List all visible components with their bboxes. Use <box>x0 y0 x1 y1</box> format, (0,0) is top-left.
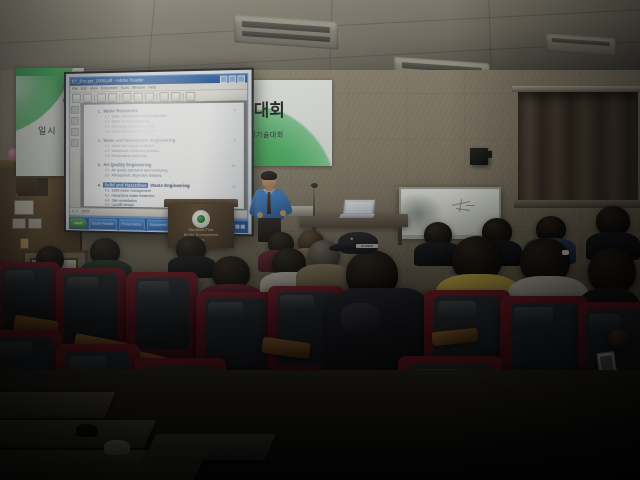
subitem-number: 2.2 <box>105 149 110 153</box>
layers-icon <box>71 128 79 136</box>
zoom-in-icon[interactable] <box>134 93 143 102</box>
open-file-icon[interactable] <box>72 94 81 103</box>
microphone-stand[interactable] <box>313 186 315 216</box>
minimize-icon <box>220 75 228 82</box>
subitem-text: Reclamation and reuse <box>112 154 148 158</box>
section-page: 2 <box>234 108 236 112</box>
start-label: start <box>74 218 83 228</box>
section-page: 9 <box>234 139 236 143</box>
aisle-step <box>144 434 276 460</box>
taskbar-item-label: Presentation <box>122 220 142 230</box>
subitem-number: 4.1 <box>105 188 110 192</box>
subitem-number: 4.4 <box>105 203 110 207</box>
section-title: Water and Wastewater Engineering <box>103 138 175 143</box>
select-tool-icon[interactable] <box>97 93 106 102</box>
navigation-pane[interactable] <box>70 103 81 209</box>
section-page: 16 <box>232 164 236 168</box>
hair-clip <box>562 250 569 255</box>
wall-outlet[interactable] <box>20 238 29 249</box>
window-curtain[interactable] <box>518 92 638 204</box>
outline-section: 3.Air Quality Engineering16 3.1Air quali… <box>98 163 236 179</box>
section-title-selected: Solid and Hazardous <box>103 182 147 188</box>
subitem-number: 2.3 <box>105 154 110 158</box>
subitem-number: 3.2 <box>105 173 110 177</box>
audience-hand <box>608 330 630 348</box>
fit-page-icon[interactable] <box>145 92 154 101</box>
subitem-number: 1.2 <box>105 119 110 123</box>
light-switch-plate[interactable] <box>14 200 34 215</box>
taskbar-item-label: Adobe Reader <box>92 219 114 229</box>
subitem-number: 4.3 <box>105 198 110 202</box>
outline-section: 2.Water and Wastewater Engineering9 2.1W… <box>98 137 236 158</box>
menu-item-tools[interactable]: Tools <box>120 85 129 91</box>
presenter <box>253 172 287 240</box>
subitem-text: Hydrology and water quality <box>112 124 155 128</box>
microphone-icon <box>311 183 318 188</box>
attachments-icon <box>71 139 79 147</box>
section-number: 4. <box>98 182 101 187</box>
subitem-text: Hazardous waste treatment <box>112 193 155 198</box>
cap-logo-icon: ★ <box>350 236 354 241</box>
next-page-icon[interactable] <box>171 92 180 101</box>
subitem-number: 2.1 <box>105 144 110 148</box>
subitem-number: 1.3 <box>105 124 110 128</box>
taskbar-item[interactable]: Adobe Reader <box>89 218 117 230</box>
page-indicator: 1 / 1 <box>72 208 78 215</box>
zoom-level: 100% <box>81 208 89 215</box>
menu-item-help[interactable]: Help <box>148 84 156 90</box>
section-title: Water Resources <box>103 108 138 113</box>
window-controls[interactable] <box>220 75 245 83</box>
bookmarks-icon <box>71 106 79 114</box>
print-icon[interactable] <box>83 94 92 103</box>
wall-outlet[interactable] <box>28 218 42 229</box>
university-seal-icon <box>192 210 210 228</box>
subitem-number: 1.4 <box>105 129 110 133</box>
document-outline: 1.Water Resources2 1.1Water distribution… <box>98 107 236 209</box>
taskbar-item[interactable]: Presentation <box>119 219 145 231</box>
section-title-tail: Waste Engineering <box>150 183 189 189</box>
menu-item-edit[interactable]: Edit <box>81 86 87 92</box>
presenter-laptop[interactable] <box>340 199 374 217</box>
section-title: Air Quality Engineering <box>103 163 151 168</box>
section-number: 1. <box>98 109 101 114</box>
subitem-number: 4.2 <box>105 193 110 197</box>
menu-item-file[interactable]: File <box>72 86 78 92</box>
taskbar-item-label: Document1 <box>150 220 168 230</box>
auditorium-photo: 2 일시 술대회 환경기술대회 ET_Env.ppt_2008.pdf - Ad… <box>0 0 640 480</box>
maximize-icon <box>229 75 237 83</box>
volume-icon <box>235 224 239 228</box>
pages-icon <box>71 117 79 125</box>
section-number: 3. <box>98 163 101 168</box>
section-page: 23 <box>232 184 236 188</box>
document-page: 1.Water Resources2 1.1Water distribution… <box>84 103 244 209</box>
subitem-text: Water and supply treatment <box>112 144 155 148</box>
close-icon <box>237 75 245 83</box>
menu-item-view[interactable]: View <box>90 85 98 91</box>
subitem-number: 3.1 <box>105 169 110 173</box>
outline-section: 1.Water Resources2 1.1Water distribution… <box>98 107 236 134</box>
section-number: 2. <box>98 138 101 143</box>
menu-item-document[interactable]: Document <box>101 85 118 91</box>
subitem-text: Solid waste management <box>112 188 151 193</box>
hand-tool-icon[interactable] <box>108 93 117 102</box>
pdf-reader-window[interactable]: ET_Env.ppt_2008.pdf - Adobe Reader File … <box>69 73 248 220</box>
shoe <box>104 440 130 455</box>
subitem-text: Site remediation <box>112 198 137 202</box>
cap-text-band: GUARD <box>356 244 378 248</box>
subitem-text: Water distribution and management <box>112 114 167 119</box>
subitem-text: Wastewater treatment process <box>112 149 159 153</box>
previous-page-icon[interactable] <box>159 92 168 101</box>
wall-outlet[interactable] <box>12 218 26 229</box>
subitem-number: 1.1 <box>105 114 110 118</box>
window-sill <box>514 200 640 208</box>
menu-item-window[interactable]: Window <box>132 84 145 90</box>
cap-text: GUARD <box>361 244 373 248</box>
battery-icon <box>241 225 245 229</box>
aisle-step <box>0 392 115 418</box>
subitem-text: Water resource planning <box>112 119 150 123</box>
shoe <box>76 424 98 437</box>
start-button[interactable]: start <box>70 218 87 228</box>
subitem-text: Air quality standards and monitoring <box>112 169 168 173</box>
zoom-out-icon[interactable] <box>122 93 131 102</box>
wall-speaker-icon <box>470 148 488 165</box>
baseball-cap: ★ GUARD <box>338 232 384 258</box>
subitem-text: Flood estimation and control <box>112 129 156 133</box>
banner-date-label: 일시 <box>38 124 57 137</box>
subitem-text: Atmospheric dispersion analysis <box>112 174 162 178</box>
search-icon[interactable] <box>186 92 196 101</box>
